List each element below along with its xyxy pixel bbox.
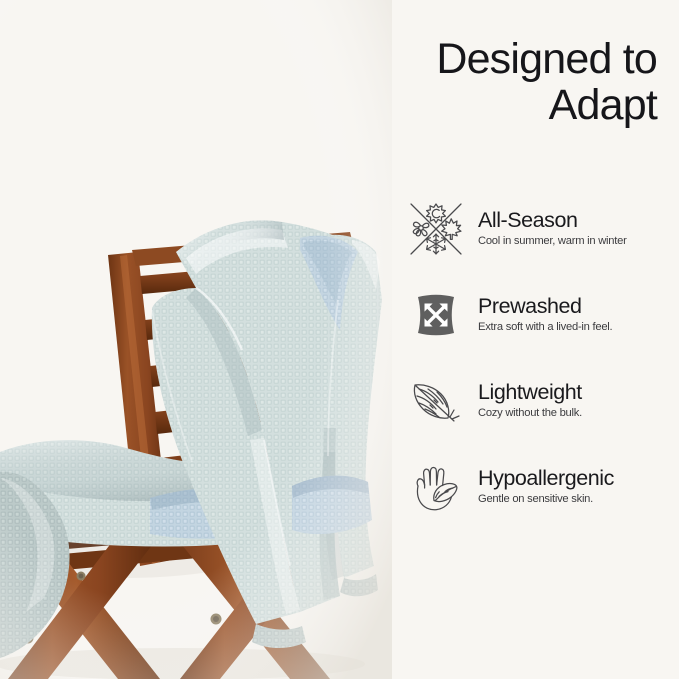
page-title: Designed to Adapt [399, 36, 657, 129]
feature-title: Hypoallergenic [478, 466, 679, 490]
feature-item-hypoallergenic: Hypoallergenic Gentle on sensitive skin. [392, 444, 679, 530]
feature-subtitle: Gentle on sensitive skin. [478, 493, 679, 506]
product-feature-infographic: Designed to Adapt [0, 0, 679, 679]
headline-line-1: Designed to [436, 35, 657, 83]
feature-subtitle: Extra soft with a lived-in feel. [478, 321, 679, 334]
hand-leaf-icon [400, 451, 472, 523]
feature-subtitle: Cool in summer, warm in winter [478, 235, 679, 248]
feature-text-hypoallergenic: Hypoallergenic Gentle on sensitive skin. [472, 466, 679, 509]
feature-title: Lightweight [478, 380, 679, 404]
pillow-arrows-icon [400, 279, 472, 351]
feature-item-lightweight: Lightweight Cozy without the bulk. [392, 358, 679, 444]
feature-list: All-Season Cool in summer, warm in winte… [392, 186, 679, 530]
feature-subtitle: Cozy without the bulk. [478, 407, 679, 420]
feature-title: All-Season [478, 208, 679, 232]
feature-item-all-season: All-Season Cool in summer, warm in winte… [392, 186, 679, 272]
feature-text-lightweight: Lightweight Cozy without the bulk. [472, 380, 679, 423]
headline-line-2: Adapt [399, 82, 657, 128]
product-photo [0, 0, 392, 679]
feather-icon [400, 365, 472, 437]
feature-text-prewashed: Prewashed Extra soft with a lived-in fee… [472, 294, 679, 337]
feature-text-all-season: All-Season Cool in summer, warm in winte… [472, 208, 679, 251]
feature-item-prewashed: Prewashed Extra soft with a lived-in fee… [392, 272, 679, 358]
feature-title: Prewashed [478, 294, 679, 318]
four-seasons-icon [400, 193, 472, 265]
feature-list-panel: Designed to Adapt [392, 0, 679, 679]
